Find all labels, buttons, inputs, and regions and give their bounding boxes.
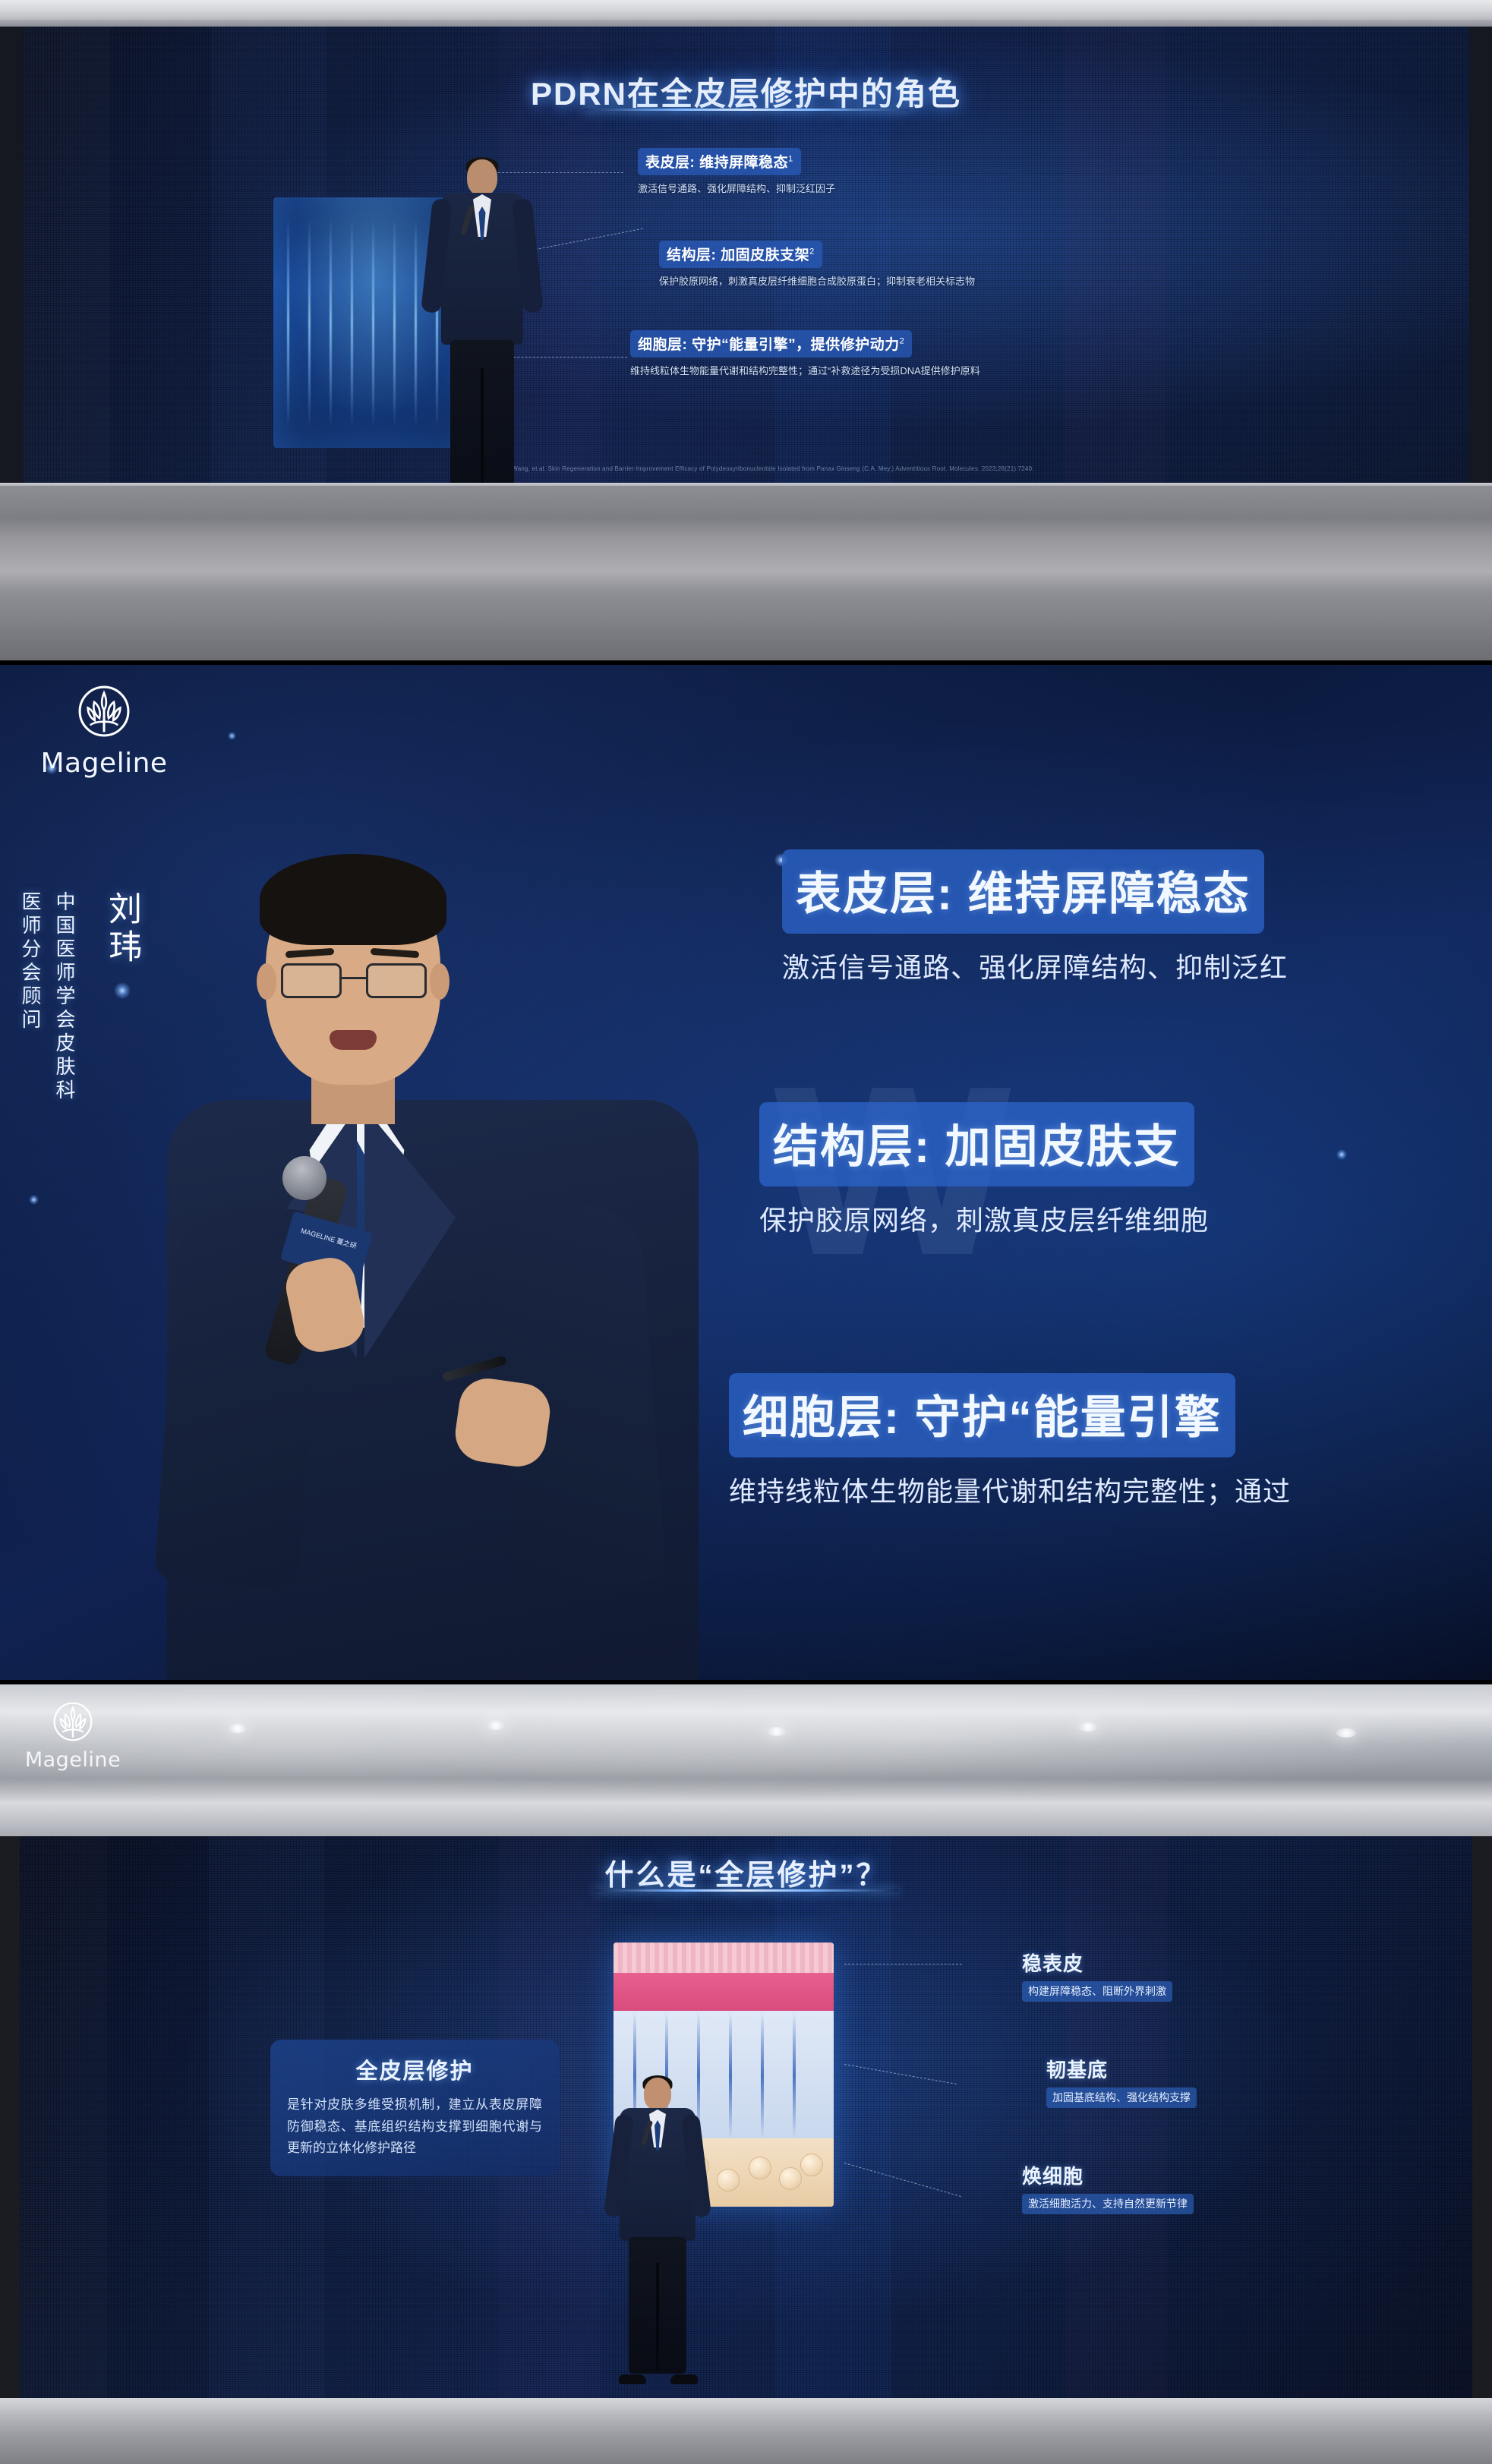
presenter-leg-split <box>656 2263 659 2371</box>
mageline-wordmark: Mageline <box>39 748 169 779</box>
speaker-figure: MAGELINE 蔓之研 <box>175 849 706 1684</box>
epidermis-layer <box>614 1973 834 2012</box>
slide-line-cell: 细胞层: 守护“能量引擎 维持线粒体生物能量代谢和结构完整性；通过 <box>729 1373 1291 1509</box>
slide-line-structure-sub: 保护胶原网络，刺激真皮层纤维细胞 <box>759 1199 1209 1238</box>
mageline-logo: Mageline <box>39 682 169 779</box>
annotation-renew-cell-sub: 激活细胞活力、支持自然更新节律 <box>1022 2194 1194 2214</box>
slide-line-cell-head: 细胞层: 守护“能量引擎 <box>729 1373 1235 1457</box>
stage-floor <box>0 2398 1492 2464</box>
panel-divider <box>0 660 1492 665</box>
slide-line-structure: 结构层: 加固皮肤支 保护胶原网络，刺激真皮层纤维细胞 <box>759 1102 1209 1238</box>
leader-line-1 <box>844 1964 962 1965</box>
annotation-epidermis-head: 表皮层: 维持屏障稳态1 <box>638 148 801 175</box>
annotation-structure-sub: 保护胶原网络，刺激真皮层纤维细胞合成胶原蛋白；抑制衰老相关标志物 <box>659 273 975 288</box>
stage-photo-bottom: Mageline 什么是“全层修护”？ <box>0 1684 1492 2464</box>
bokeh-light <box>114 982 131 999</box>
ceiling-light-icon <box>486 1721 506 1730</box>
annotation-tough-basal: 韧基底 加固基底结构、强化结构支撑 <box>1046 2055 1197 2108</box>
stratum-corneum-layer <box>614 1943 834 1976</box>
mageline-lotus-emblem-icon <box>51 1700 95 1744</box>
mageline-wordmark: Mageline <box>21 1748 125 1772</box>
annotation-renew-cell-head: 焕细胞 <box>1022 2161 1194 2189</box>
definition-card-body: 是针对皮肤多维受损机制，建立从表皮屏障防御稳态、基底组织结构支撑到细胞代谢与更新… <box>287 2094 542 2160</box>
speaker-name: 刘玮 <box>97 891 146 967</box>
led-wall-top: PDRN在全皮层修护中的角色 表皮层: 维持屏障稳态1 激活信号通路、强化屏障结… <box>23 27 1469 486</box>
ceiling-light-icon <box>767 1727 787 1736</box>
annotation-stable-epidermis-sub: 构建屏障稳态、阻断外界刺激 <box>1022 1981 1172 2002</box>
bokeh-light <box>228 732 236 740</box>
panel-divider <box>0 1680 1492 1684</box>
footnote-marker: 1 <box>788 155 793 164</box>
title-underline <box>595 1889 898 1892</box>
bokeh-light <box>1336 1149 1347 1160</box>
annotation-renew-cell: 焕细胞 激活细胞活力、支持自然更新节律 <box>1022 2161 1194 2214</box>
speaker-ear-right <box>430 963 449 1000</box>
ceiling-light-icon <box>1078 1722 1098 1731</box>
annotation-structure: 结构层: 加固皮肤支架2 保护胶原网络，刺激真皮层纤维细胞合成胶原蛋白；抑制衰老… <box>659 241 975 288</box>
stage-floor <box>0 486 1492 663</box>
annotation-cell: 细胞层: 守护“能量引擎”，提供修护动力2 维持线粒体生物能量代谢和结构完整性；… <box>630 330 980 377</box>
slide-title: PDRN在全皮层修护中的角色 <box>23 68 1469 115</box>
definition-card-title: 全皮层修护 <box>287 2053 542 2085</box>
speaker-closeup-photo: W Mageline 刘玮 中国医师学会皮肤科 医师分会顾问 <box>0 663 1492 1684</box>
annotation-cell-head: 细胞层: 守护“能量引擎”，提供修护动力2 <box>630 330 912 358</box>
slide-line-structure-head: 结构层: 加固皮肤支 <box>759 1102 1194 1186</box>
annotation-structure-head: 结构层: 加固皮肤支架2 <box>659 241 822 268</box>
annotation-stable-epidermis: 稳表皮 构建屏障稳态、阻断外界刺激 <box>1022 1949 1172 2002</box>
slide-line-epidermis-sub: 激活信号通路、强化屏障结构、抑制泛红 <box>782 946 1288 985</box>
mageline-lotus-emblem-icon <box>75 682 133 740</box>
presenter-leg-split <box>481 368 484 490</box>
ceiling-light-icon <box>1336 1728 1356 1738</box>
speaker-hand-right <box>452 1375 554 1470</box>
presenter-head <box>467 159 497 196</box>
screenshot-root: PDRN在全皮层修护中的角色 表皮层: 维持屏障稳态1 激活信号通路、强化屏障结… <box>0 0 1492 2464</box>
led-wall-bottom: 什么是“全层修护”？ 稳表皮 <box>20 1836 1472 2398</box>
speaker-title-line-2: 医师分会顾问 <box>17 891 45 1103</box>
annotation-epidermis-sub: 激活信号通路、强化屏障结构、抑制泛红因子 <box>638 181 835 195</box>
slide-footnote-citation: [1] Lee KS, Lee S, Wang, et al. Skin Reg… <box>458 465 1033 472</box>
annotation-stable-epidermis-head: 稳表皮 <box>1022 1949 1172 1977</box>
presenter-shoe-left <box>619 2374 646 2384</box>
mageline-logo: Mageline <box>21 1700 125 1772</box>
ceiling-shadow-band <box>0 20 1492 27</box>
ceiling-band <box>0 0 1492 20</box>
presenter-figure <box>608 2078 707 2381</box>
definition-card: 全皮层修护 是针对皮肤多维受损机制，建立从表皮屏障防御稳态、基底组织结构支撑到细… <box>270 2040 559 2176</box>
speaker-hair <box>260 854 446 945</box>
footnote-marker: 2 <box>809 247 815 257</box>
annotation-cell-sub: 维持线粒体生物能量代谢和结构完整性；通过“补救途径为受损DNA提供修护原料 <box>630 363 980 377</box>
annotation-tough-basal-sub: 加固基底结构、强化结构支撑 <box>1046 2087 1197 2108</box>
title-underline <box>583 109 910 111</box>
speaker-ear-left <box>257 963 276 1000</box>
slide-line-epidermis-head: 表皮层: 维持屏障稳态 <box>782 849 1264 934</box>
glasses-icon <box>281 963 342 998</box>
bokeh-light <box>29 1195 39 1205</box>
slide-title: 什么是“全层修护”？ <box>20 1851 1472 1893</box>
presenter-head <box>644 2078 671 2110</box>
presenter-shoe-right <box>670 2374 698 2384</box>
slide-line-epidermis: 表皮层: 维持屏障稳态 激活信号通路、强化屏障结构、抑制泛红 <box>782 849 1288 985</box>
glasses-icon <box>366 963 427 998</box>
venue-ceiling <box>0 1684 1492 1836</box>
speaker-title: 中国医师学会皮肤科 医师分会顾问 <box>17 891 79 1103</box>
speaker-mouth <box>330 1030 377 1050</box>
presenter-figure <box>425 159 539 505</box>
annotation-epidermis: 表皮层: 维持屏障稳态1 激活信号通路、强化屏障结构、抑制泛红因子 <box>638 148 835 195</box>
ceiling-light-icon <box>228 1724 248 1733</box>
footnote-marker: 2 <box>900 337 905 346</box>
slide-line-cell-sub: 维持线粒体生物能量代谢和结构完整性；通过 <box>729 1470 1291 1509</box>
speaker-title-line-1: 中国医师学会皮肤科 <box>51 891 79 1103</box>
glasses-bridge <box>342 977 366 979</box>
annotation-tough-basal-head: 韧基底 <box>1046 2055 1197 2083</box>
stage-photo-top: PDRN在全皮层修护中的角色 表皮层: 维持屏障稳态1 激活信号通路、强化屏障结… <box>0 0 1492 663</box>
